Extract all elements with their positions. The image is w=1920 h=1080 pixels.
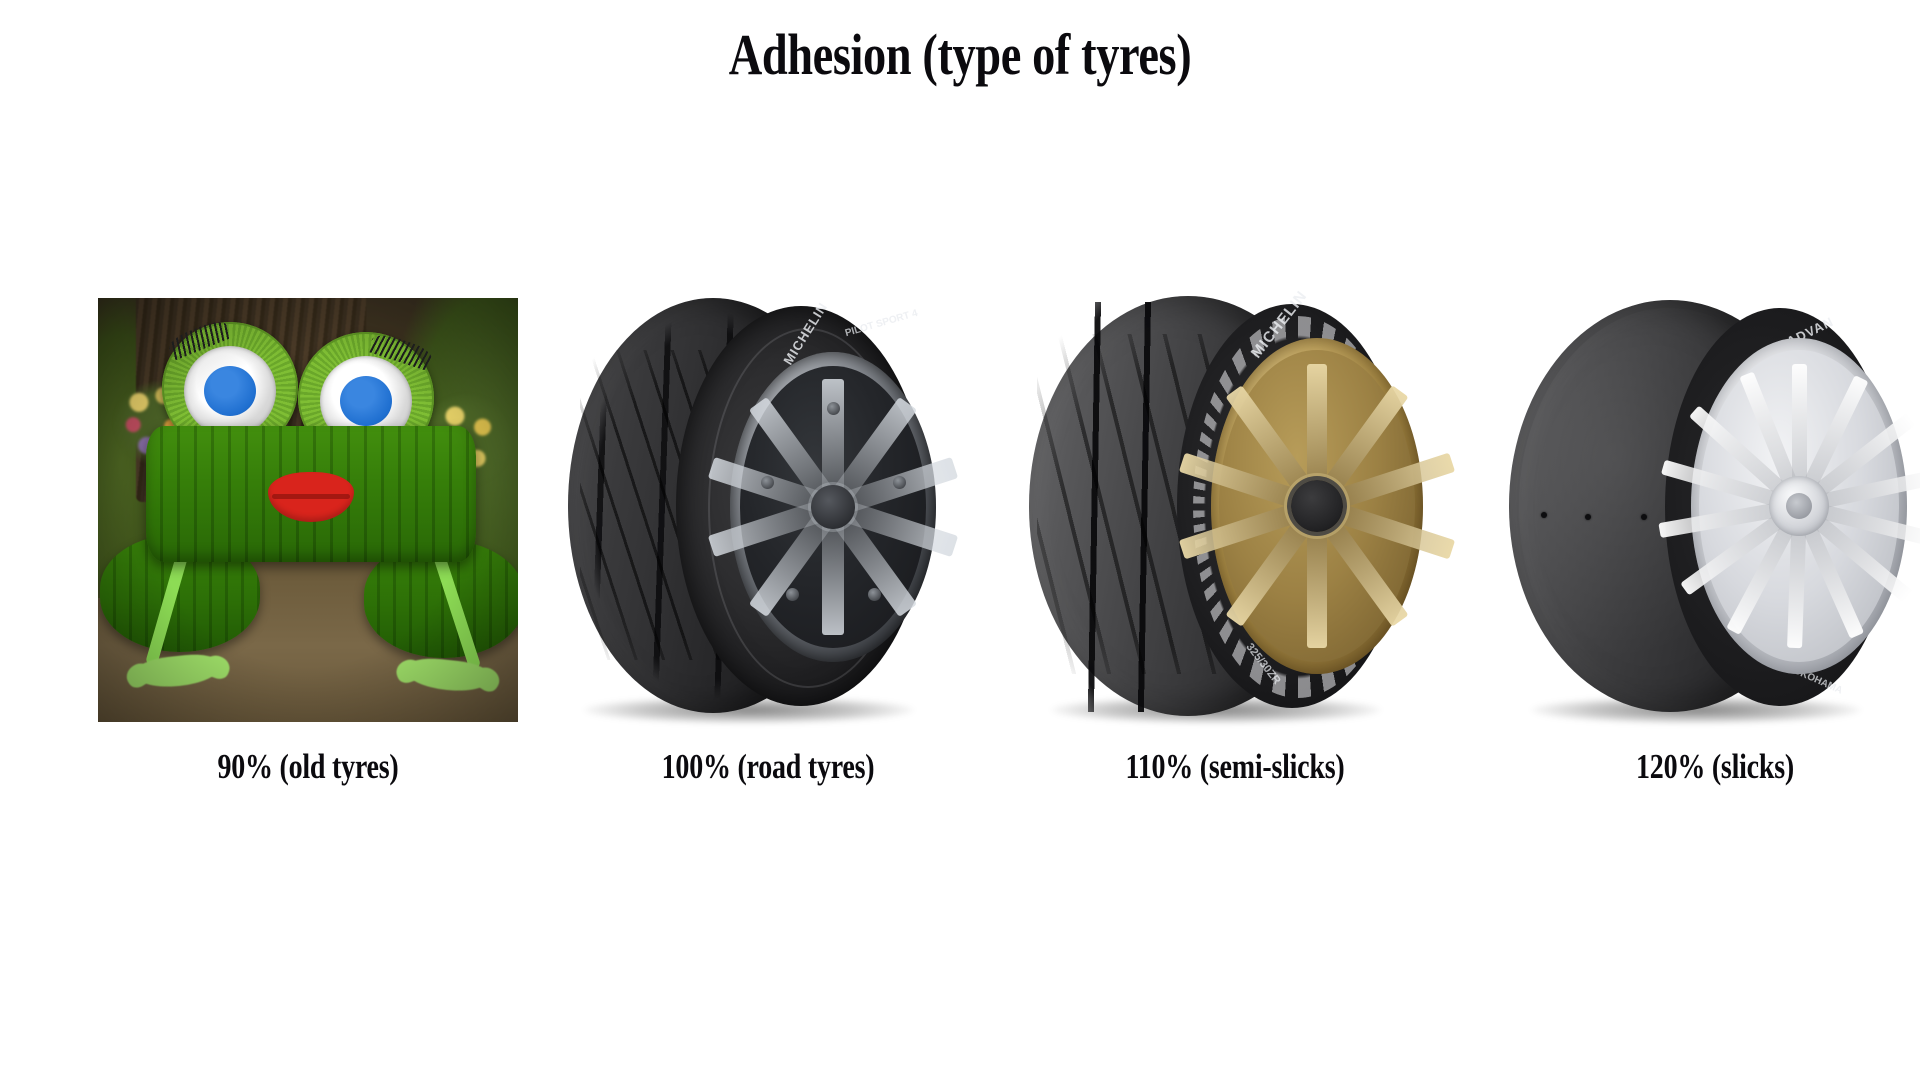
item-slicks: ADVAN YOKOHAMA <box>1505 290 1920 730</box>
frog-lips <box>268 472 354 522</box>
tyre-wear-indicator-dot <box>1641 514 1647 520</box>
wheel-center-cap <box>811 485 855 529</box>
slick-tyre-illustration: ADVAN YOKOHAMA <box>1505 290 1920 730</box>
wheel-lug-nut <box>893 476 906 489</box>
caption-old-tyres: 90% (old tyres) <box>140 745 476 789</box>
road-tyre-illustration: MICHELIN PILOT SPORT 4 <box>558 290 978 730</box>
item-road-tyres: MICHELIN PILOT SPORT 4 <box>558 290 978 730</box>
figure-road-tyre: MICHELIN PILOT SPORT 4 <box>558 290 978 730</box>
alloy-wheel <box>1211 338 1423 674</box>
frog-head-tyre <box>146 426 476 562</box>
frog-pupil-right <box>340 376 392 426</box>
page-title: Adhesion (type of tyres) <box>192 22 1728 88</box>
item-semi-slicks: MICHELIN 325/30ZR <box>1025 290 1445 730</box>
figure-old-tyres <box>98 290 518 730</box>
tyre-wear-indicator-dot <box>1541 512 1547 518</box>
photo-tyre-frog-planter <box>98 298 518 722</box>
wheel-lug-nut <box>761 476 774 489</box>
caption-road-tyres: 100% (road tyres) <box>600 745 936 789</box>
figure-semi-slick-tyre: MICHELIN 325/30ZR <box>1025 290 1445 730</box>
figure-slick-tyre: ADVAN YOKOHAMA <box>1505 290 1920 730</box>
alloy-wheel <box>730 352 936 662</box>
wheel-lug-nut <box>786 588 799 601</box>
wheel-lug-nut <box>868 588 881 601</box>
item-old-tyres <box>98 290 518 730</box>
caption-slicks: 120% (slicks) <box>1547 745 1883 789</box>
tyre-wear-indicator-dot <box>1585 514 1591 520</box>
wheel-center-cap <box>1769 476 1829 536</box>
wheel-lug-nut <box>827 402 840 415</box>
wheel-center-cap <box>1291 480 1343 532</box>
alloy-wheel <box>1691 338 1907 674</box>
semi-slick-tyre-illustration: MICHELIN 325/30ZR <box>1025 290 1445 730</box>
frog-pupil-left <box>204 366 256 416</box>
caption-semi-slicks: 110% (semi-slicks) <box>1067 745 1403 789</box>
slide-root: Adhesion (type of tyres) <box>0 0 1920 1080</box>
